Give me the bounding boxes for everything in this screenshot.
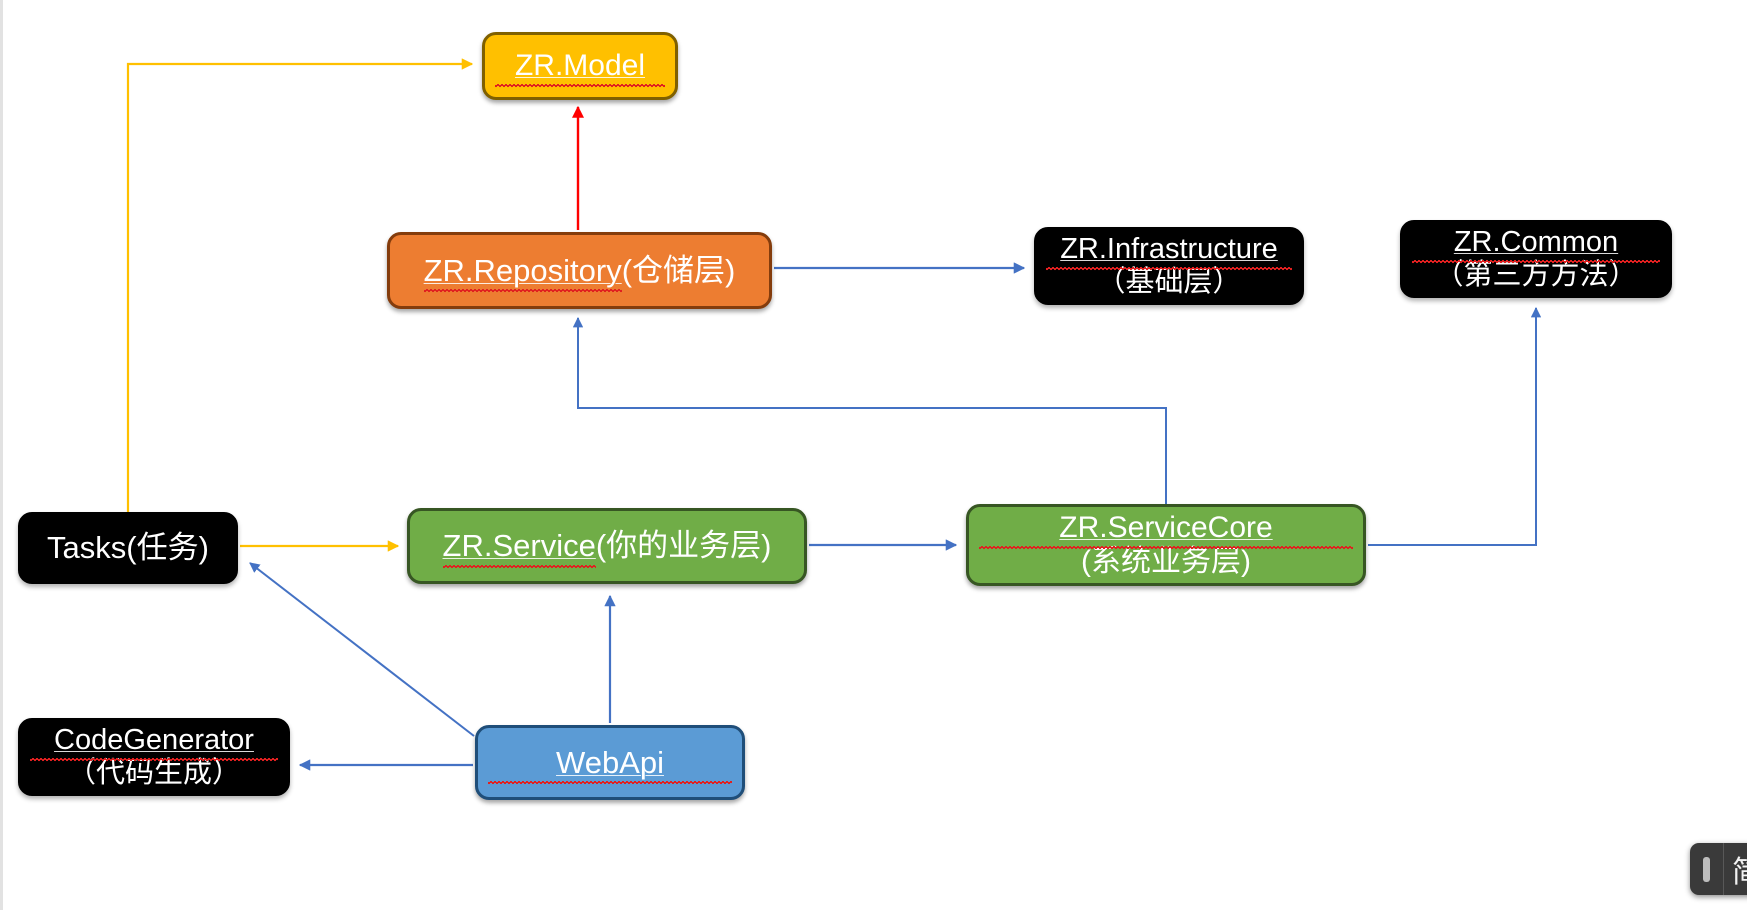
- edge-webapi-to-tasks: [250, 563, 474, 736]
- ime-indicator[interactable]: 简: [1690, 843, 1747, 895]
- node-zr-infrastructure-line1: ZR.Infrastructure: [1046, 233, 1292, 266]
- node-zr-servicecore-line1: ZR.ServiceCore: [979, 511, 1353, 546]
- node-zr-service-line1: ZR.Service: [443, 528, 596, 564]
- node-zr-model-line1: ZR.Model: [495, 49, 665, 84]
- node-codegenerator[interactable]: CodeGenerator （代码生成）: [18, 718, 290, 796]
- node-webapi-line1: WebApi: [488, 745, 732, 781]
- node-zr-infrastructure[interactable]: ZR.Infrastructure （基础层）: [1034, 227, 1304, 305]
- ime-mode-bar-icon[interactable]: [1690, 843, 1724, 895]
- node-zr-repository-label: ZR.Repository(仓储层): [400, 253, 759, 289]
- edge-servicecore-to-repository: [578, 318, 1166, 504]
- node-codegenerator-line2: （代码生成）: [30, 757, 278, 790]
- node-zr-repository-line2: (仓储层): [622, 253, 736, 288]
- node-zr-infrastructure-line2: （基础层）: [1046, 266, 1292, 299]
- node-zr-model[interactable]: ZR.Model: [482, 32, 678, 100]
- node-zr-common[interactable]: ZR.Common （第三方方法）: [1400, 220, 1672, 298]
- node-zr-repository[interactable]: ZR.Repository(仓储层): [387, 232, 772, 309]
- node-zr-service-line2: (你的业务层): [596, 528, 772, 563]
- node-zr-common-line2: （第三方方法）: [1412, 259, 1660, 292]
- ime-language-label[interactable]: 简: [1724, 847, 1747, 891]
- node-zr-servicecore[interactable]: ZR.ServiceCore (系统业务层): [966, 504, 1366, 586]
- edge-servicecore-to-common: [1368, 308, 1536, 545]
- node-tasks-line1: Tasks(任务): [30, 530, 226, 566]
- node-codegenerator-line1: CodeGenerator: [30, 724, 278, 757]
- page-left-edge: [0, 0, 3, 910]
- diagram-canvas: ZR.Model ZR.Repository(仓储层) ZR.Infrastru…: [0, 0, 1747, 910]
- node-zr-service[interactable]: ZR.Service(你的业务层): [407, 508, 807, 584]
- node-zr-servicecore-line2: (系统业务层): [979, 545, 1353, 580]
- node-zr-service-label: ZR.Service(你的业务层): [420, 528, 794, 564]
- node-zr-common-line1: ZR.Common: [1412, 226, 1660, 259]
- node-webapi[interactable]: WebApi: [475, 725, 745, 800]
- node-zr-repository-line1: ZR.Repository: [424, 253, 622, 289]
- node-tasks[interactable]: Tasks(任务): [18, 512, 238, 584]
